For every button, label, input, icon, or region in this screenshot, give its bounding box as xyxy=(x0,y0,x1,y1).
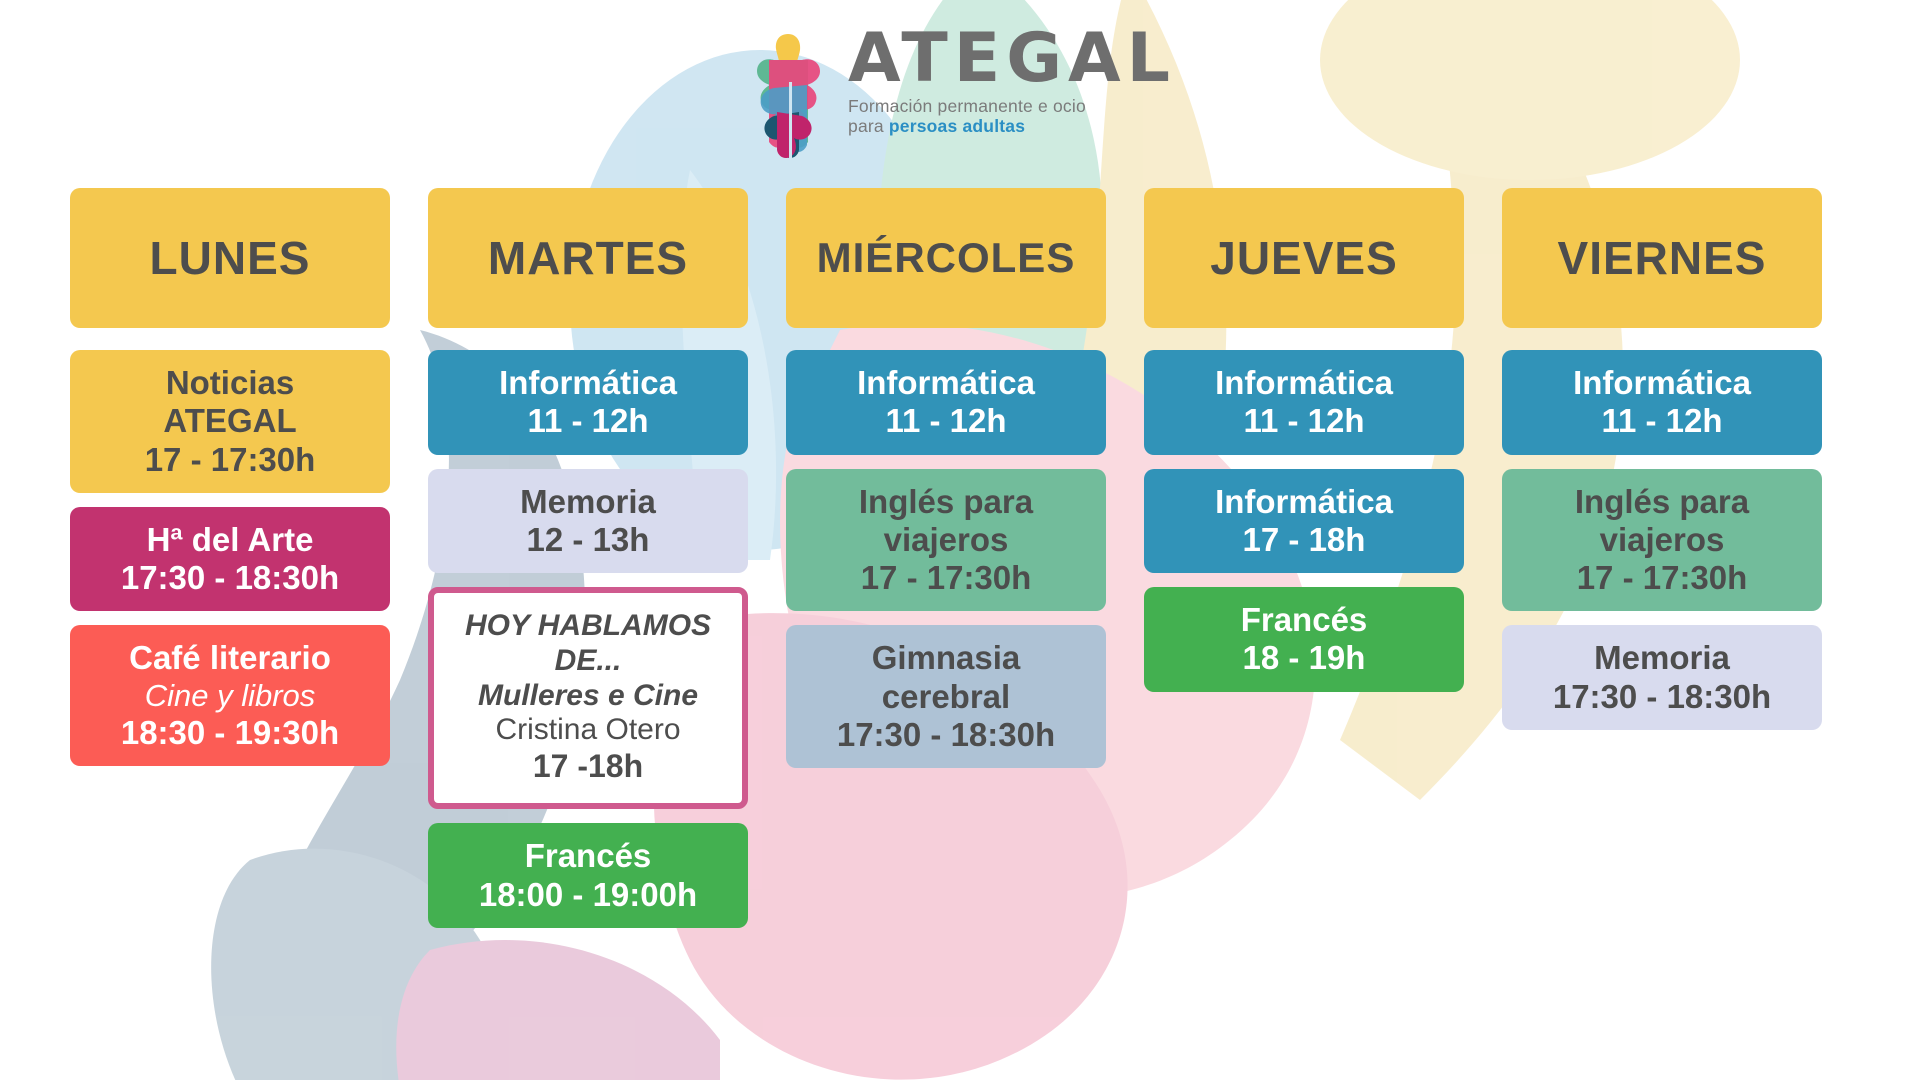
ategal-leaf-icon xyxy=(744,30,836,170)
activity-title: Francés xyxy=(1154,601,1454,639)
activity-time: 17 - 17:30h xyxy=(80,441,380,479)
activity-title: NoticiasATEGAL xyxy=(80,364,380,441)
activity-title: Memoria xyxy=(438,483,738,521)
activity-card[interactable]: Informática11 - 12h xyxy=(1502,350,1822,455)
activity-card[interactable]: Café literarioCine y libros18:30 - 19:30… xyxy=(70,625,390,765)
activity-time: 18:00 - 19:00h xyxy=(438,876,738,914)
activity-card[interactable]: Francés18:00 - 19:00h xyxy=(428,823,748,928)
activity-time: 17 - 17:30h xyxy=(796,559,1096,597)
activity-title: Informática xyxy=(1512,364,1812,402)
activity-time: 17 -18h xyxy=(444,748,732,785)
activity-title: Informática xyxy=(1154,364,1454,402)
activity-time: 12 - 13h xyxy=(438,521,738,559)
activity-time: 17:30 - 18:30h xyxy=(80,559,380,597)
activity-title: Informática xyxy=(438,364,738,402)
activity-title: Informática xyxy=(796,364,1096,402)
brand-logo: ATEGAL Formación permanente e ocio para … xyxy=(744,26,1176,170)
activity-title: Inglés paraviajeros xyxy=(796,483,1096,560)
activity-card[interactable]: Informática17 - 18h xyxy=(1144,469,1464,574)
day-column-jueves: JUEVESInformática11 - 12hInformática17 -… xyxy=(1144,188,1464,706)
activity-subtitle: Cine y libros xyxy=(80,678,380,714)
activity-time: 17:30 - 18:30h xyxy=(1512,678,1812,716)
activity-time: 11 - 12h xyxy=(1512,402,1812,440)
bg-blob-rose-bottom xyxy=(396,940,720,1080)
activity-headline: HOY HABLAMOS DE... xyxy=(444,609,732,679)
logo-tagline-line1: Formación permanente e ocio xyxy=(848,96,1086,116)
activity-time: 11 - 12h xyxy=(796,402,1096,440)
activity-title: Gimnasiacerebral xyxy=(796,639,1096,716)
activity-card[interactable]: HOY HABLAMOS DE...Mulleres e CineCristin… xyxy=(428,587,748,809)
day-column-martes: MARTESInformática11 - 12hMemoria12 - 13h… xyxy=(428,188,748,942)
activity-card[interactable]: Memoria17:30 - 18:30h xyxy=(1502,625,1822,730)
activity-card[interactable]: Hª del Arte17:30 - 18:30h xyxy=(70,507,390,612)
activity-card[interactable]: Inglés paraviajeros17 - 17:30h xyxy=(786,469,1106,612)
day-column-viernes: VIERNESInformática11 - 12hInglés paravia… xyxy=(1502,188,1822,744)
activity-card[interactable]: Memoria12 - 13h xyxy=(428,469,748,574)
day-header-martes: MARTES xyxy=(428,188,748,328)
activity-time: 11 - 12h xyxy=(438,402,738,440)
logo-tagline: Formación permanente e ocio para persoas… xyxy=(848,97,1176,136)
activity-topic: Mulleres e Cine xyxy=(444,679,732,714)
activity-card[interactable]: Informática11 - 12h xyxy=(428,350,748,455)
logo-tagline-prefix: para xyxy=(848,116,889,136)
activity-title: Francés xyxy=(438,837,738,875)
day-header-lunes: LUNES xyxy=(70,188,390,328)
activity-title: Hª del Arte xyxy=(80,521,380,559)
day-column-lunes: LUNESNoticiasATEGAL17 - 17:30hHª del Art… xyxy=(70,188,390,780)
day-header-viernes: VIERNES xyxy=(1502,188,1822,328)
day-header-miércoles: MIÉRCOLES xyxy=(786,188,1106,328)
weekly-schedule-grid: LUNESNoticiasATEGAL17 - 17:30hHª del Art… xyxy=(0,188,1920,942)
activity-time: 18:30 - 19:30h xyxy=(80,714,380,752)
activity-title: Inglés paraviajeros xyxy=(1512,483,1812,560)
bg-blob-cream-top xyxy=(1320,0,1740,180)
activity-title: Memoria xyxy=(1512,639,1812,677)
activity-card[interactable]: NoticiasATEGAL17 - 17:30h xyxy=(70,350,390,493)
activity-card[interactable]: Informática11 - 12h xyxy=(1144,350,1464,455)
activity-time: 17:30 - 18:30h xyxy=(796,716,1096,754)
activity-time: 17 - 17:30h xyxy=(1512,559,1812,597)
day-header-jueves: JUEVES xyxy=(1144,188,1464,328)
activity-speaker: Cristina Otero xyxy=(444,713,732,748)
activity-title: Informática xyxy=(1154,483,1454,521)
activity-title: Café literario xyxy=(80,639,380,677)
activity-card[interactable]: Gimnasiacerebral17:30 - 18:30h xyxy=(786,625,1106,768)
activity-time: 18 - 19h xyxy=(1154,639,1454,677)
logo-wordmark: ATEGAL xyxy=(848,26,1176,91)
logo-tagline-highlight: persoas adultas xyxy=(889,116,1025,136)
activity-time: 17 - 18h xyxy=(1154,521,1454,559)
activity-card[interactable]: Francés18 - 19h xyxy=(1144,587,1464,692)
day-column-miércoles: MIÉRCOLESInformática11 - 12hInglés parav… xyxy=(786,188,1106,782)
activity-time: 11 - 12h xyxy=(1154,402,1454,440)
activity-card[interactable]: Inglés paraviajeros17 - 17:30h xyxy=(1502,469,1822,612)
activity-card[interactable]: Informática11 - 12h xyxy=(786,350,1106,455)
